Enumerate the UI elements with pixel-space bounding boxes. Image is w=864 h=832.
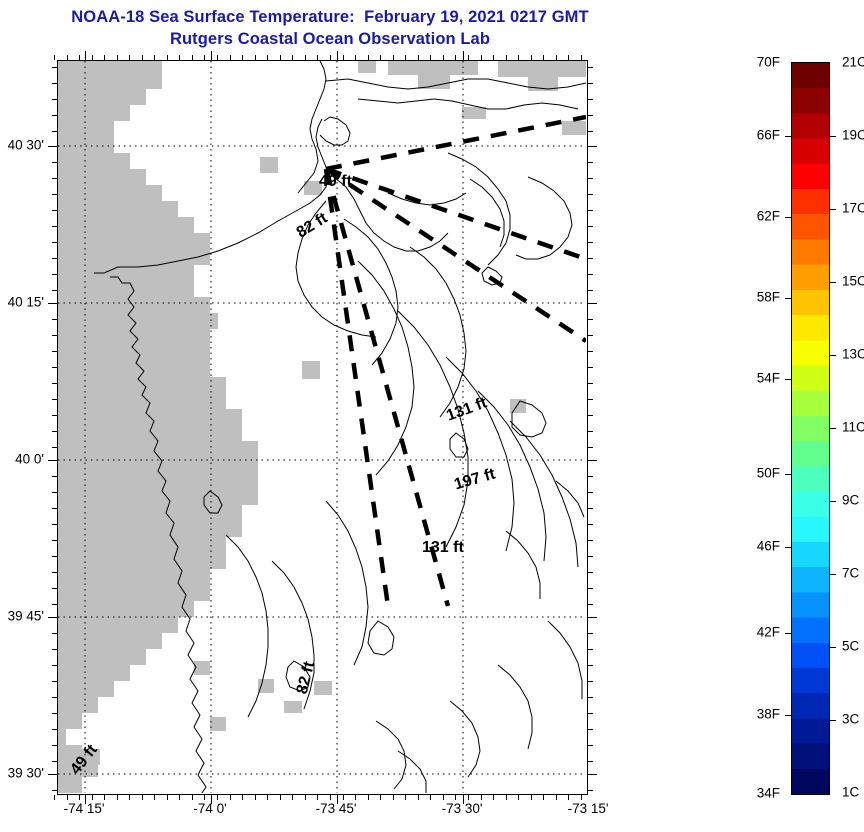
colorbar-label-c: 1C <box>842 785 859 800</box>
colorbar-tick-right <box>830 501 836 502</box>
colorbar-label-c: 7C <box>842 566 859 581</box>
colorbar-label-c: 11C <box>842 420 864 435</box>
colorbar-tick-right <box>830 355 836 356</box>
colorbar-label-f: 58F <box>757 290 780 305</box>
colorbar-label-c: 17C <box>842 201 864 216</box>
colorbar-label-f: 54F <box>757 371 780 386</box>
colorbar-label-f: 38F <box>757 707 780 722</box>
colorbar-label-c: 19C <box>842 128 864 143</box>
colorbar[interactable] <box>791 62 830 795</box>
colorbar-gradient <box>792 63 829 794</box>
colorbar-tick-right <box>830 647 836 648</box>
colorbar-tick-right <box>830 282 836 283</box>
colorbar-tick-right <box>830 574 836 575</box>
colorbar-tick-right <box>830 428 836 429</box>
colorbar-label-c: 3C <box>842 712 859 727</box>
colorbar-label-c: 21C <box>842 55 864 70</box>
colorbar-labels-fahrenheit: 70F 66F 62F 58F 54F 50F 46F 42F 38F 34F <box>0 0 786 832</box>
colorbar-label-f: 50F <box>757 466 780 481</box>
colorbar-tick-right <box>830 720 836 721</box>
colorbar-label-f: 34F <box>757 786 780 801</box>
colorbar-label-f: 42F <box>757 625 780 640</box>
colorbar-label-c: 9C <box>842 493 859 508</box>
colorbar-label-f: 46F <box>757 539 780 554</box>
colorbar-label-c: 15C <box>842 274 864 289</box>
colorbar-label-f: 66F <box>757 128 780 143</box>
colorbar-tick-right <box>830 136 836 137</box>
colorbar-tick-right <box>830 209 836 210</box>
colorbar-label-f: 62F <box>757 209 780 224</box>
colorbar-label-c: 5C <box>842 639 859 654</box>
colorbar-label-f: 70F <box>757 55 780 70</box>
colorbar-label-c: 13C <box>842 347 864 362</box>
